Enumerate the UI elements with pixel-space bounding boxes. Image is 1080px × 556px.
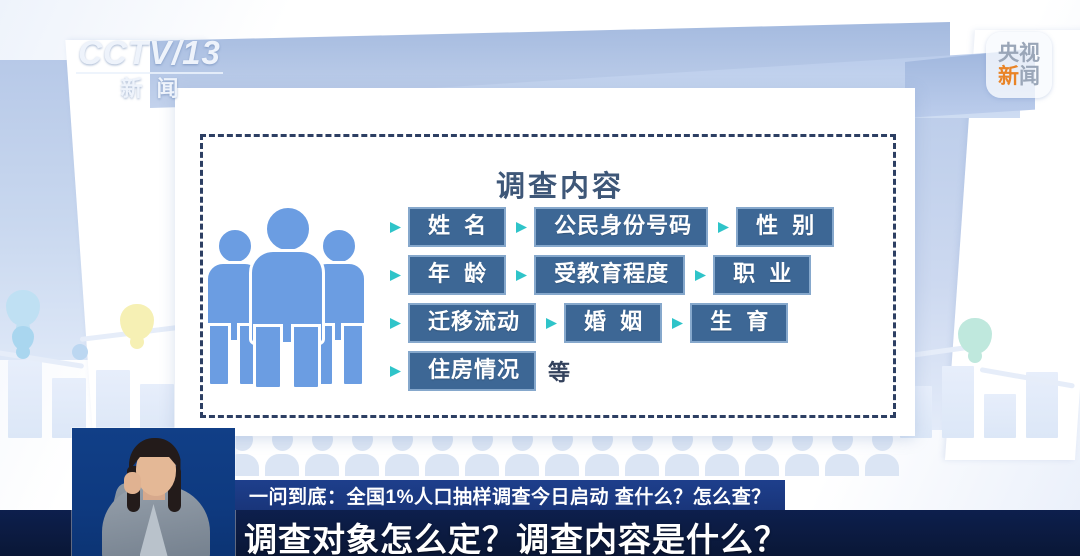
cctv13-logo-rule: [76, 72, 223, 74]
arrow-right-marker-icon: [388, 316, 403, 331]
badge-char-4: 闻: [1019, 66, 1040, 87]
arrow-right-marker-icon: [544, 316, 559, 331]
list-row: 姓 名 公民身份号码 性 别: [388, 206, 888, 248]
headline-text: 调查对象怎么定？调查内容是什么？: [244, 513, 788, 556]
chip-item[interactable]: 生 育: [690, 303, 788, 342]
anchor-hand: [124, 472, 141, 494]
chip-item[interactable]: 性 别: [736, 207, 834, 246]
background-chart-left: [0, 318, 200, 438]
page-title: 调查内容: [0, 163, 1080, 205]
cctv13-logo-mark: CCTV/13: [72, 36, 227, 69]
background-chart-right: [890, 318, 1080, 438]
chip-item[interactable]: 婚 姻: [564, 303, 662, 342]
arrow-right-marker-icon: [716, 220, 731, 235]
arrow-right-marker-icon: [388, 220, 403, 235]
survey-content-list: 姓 名 公民身份号码 性 别 年 龄 受教育程度 职 业: [388, 206, 888, 398]
list-row: 住房情况 等: [388, 350, 888, 392]
list-row: 迁移流动 婚 姻 生 育: [388, 302, 888, 344]
chip-item[interactable]: 职 业: [713, 255, 811, 294]
arrow-right-marker-icon: [514, 268, 529, 283]
broadcast-screenshot: 调查内容 姓 名: [0, 0, 1080, 556]
chip-item[interactable]: 年 龄: [408, 255, 506, 294]
cctv13-logo: CCTV/13 新闻: [72, 36, 227, 100]
badge-char-3: 新: [998, 66, 1019, 87]
chip-item[interactable]: 受教育程度: [534, 255, 685, 294]
etc-label: 等: [548, 355, 570, 387]
arrow-right-marker-icon: [514, 220, 529, 235]
chip-item[interactable]: 公民身份号码: [534, 207, 708, 246]
arrow-right-marker-icon: [693, 268, 708, 283]
arrow-right-marker-icon: [388, 364, 403, 379]
arrow-right-marker-icon: [388, 268, 403, 283]
chip-item[interactable]: 姓 名: [408, 207, 506, 246]
kicker-bar: 一问到底：全国1%人口抽样调查今日启动 查什么？怎么查？: [235, 480, 785, 510]
anchor-video-inset: [72, 428, 235, 556]
kicker-text: 一问到底：全国1%人口抽样调查今日启动 查什么？怎么查？: [249, 482, 771, 509]
yangshi-news-badge: 央 视 新 闻: [986, 32, 1052, 98]
arrow-right-marker-icon: [670, 316, 685, 331]
badge-char-2: 视: [1019, 43, 1040, 64]
list-row: 年 龄 受教育程度 职 业: [388, 254, 888, 296]
cctv13-logo-subtitle: 新闻: [72, 78, 227, 100]
chip-item[interactable]: 迁移流动: [408, 303, 536, 342]
badge-char-1: 央: [998, 43, 1019, 64]
people-group-icon: [205, 205, 370, 390]
chip-item[interactable]: 住房情况: [408, 351, 536, 390]
